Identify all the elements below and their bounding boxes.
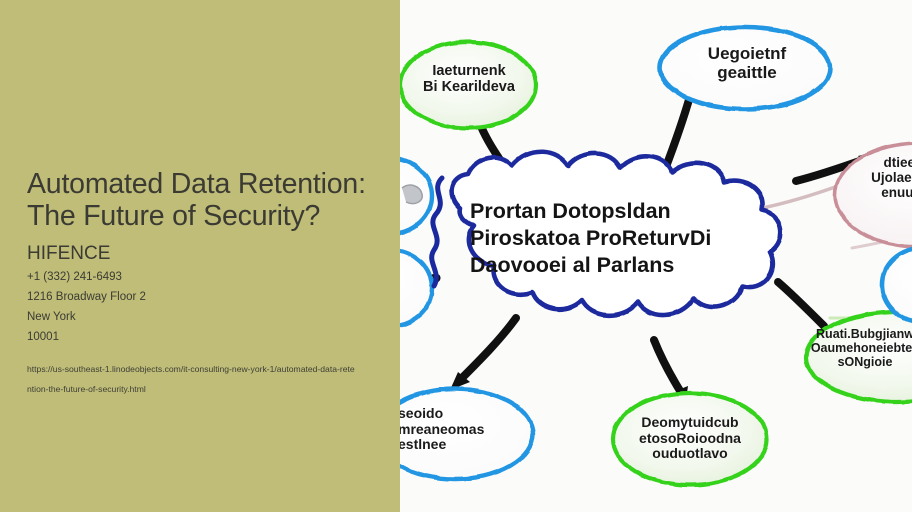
- node-left-mid-upper[interactable]: [400, 158, 432, 234]
- node-top-left-outline: [400, 42, 536, 128]
- street-address: 1216 Broadway Floor 2: [27, 287, 379, 307]
- source-url-link[interactable]: https://us-southeast-1.linodeobjects.com…: [27, 359, 357, 399]
- center-node-label: Prortan Dotopsldan Piroskatoa ProReturvD…: [470, 198, 770, 279]
- left-info-panel: Automated Data Retention: The Future of …: [0, 0, 400, 512]
- left-panel-content: Automated Data Retention: The Future of …: [27, 168, 379, 399]
- contact-details: +1 (332) 241-6493 1216 Broadway Floor 2 …: [27, 267, 379, 347]
- node-bottom-center[interactable]: [613, 393, 767, 485]
- node-top-center-outline: [660, 27, 830, 109]
- node-right-top[interactable]: [835, 143, 912, 247]
- node-bottom-left[interactable]: [400, 389, 533, 479]
- node-left-mid-lower[interactable]: [400, 250, 432, 326]
- node-top-center[interactable]: [660, 27, 830, 109]
- connector-to-bottom-center: [654, 340, 682, 394]
- screenshot-root: Automated Data Retention: The Future of …: [0, 0, 912, 512]
- page-title: Automated Data Retention: The Future of …: [27, 168, 379, 232]
- city-name: New York: [27, 307, 379, 327]
- zip-code: 10001: [27, 327, 379, 347]
- node-left-mid-lower-outline: [400, 250, 432, 326]
- node-top-left[interactable]: [400, 42, 536, 128]
- node-right-top-outline: [835, 143, 912, 247]
- phone-number: +1 (332) 241-6493: [27, 267, 379, 287]
- connector-to-right-bottom: [778, 282, 824, 326]
- brand-name: HIFENCE: [27, 243, 379, 265]
- node-bottom-left-outline: [400, 389, 533, 479]
- node-bottom-center-outline: [613, 393, 767, 485]
- mindmap-diagram-panel: Prortan Dotopsldan Piroskatoa ProReturvD…: [400, 0, 912, 512]
- connector-to-bottom-left: [460, 318, 516, 380]
